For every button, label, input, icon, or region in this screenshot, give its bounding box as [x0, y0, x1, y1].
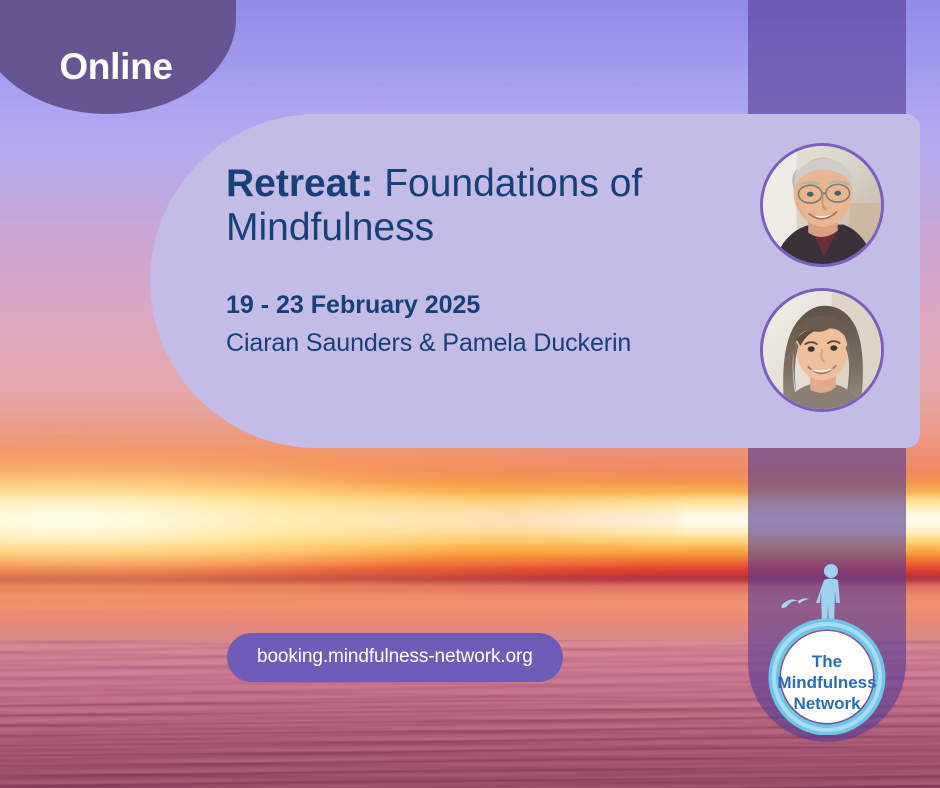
avatar-presenter-2	[760, 288, 884, 412]
promo-poster: Online Retreat: Foundations of Mindfulne…	[0, 0, 940, 788]
mindfulness-network-logo: The Mindfulness Network	[760, 555, 894, 735]
page-title: Retreat: Foundations of Mindfulness	[226, 162, 746, 251]
title-prefix: Retreat:	[226, 162, 373, 205]
booking-url-pill[interactable]: booking.mindfulness-network.org	[227, 633, 563, 682]
logo-line-1: The	[812, 652, 842, 671]
logo-line-3: Network	[793, 694, 861, 713]
avatar-presenter-1	[760, 143, 884, 267]
bird-icon	[781, 598, 809, 608]
person-silhouette-icon	[816, 564, 840, 627]
portrait-photo-pamela-duckerin	[763, 291, 881, 409]
logo-line-2: Mindfulness	[777, 673, 876, 692]
portrait-photo-ciaran-saunders	[763, 146, 881, 264]
online-badge-label: Online	[41, 46, 172, 88]
